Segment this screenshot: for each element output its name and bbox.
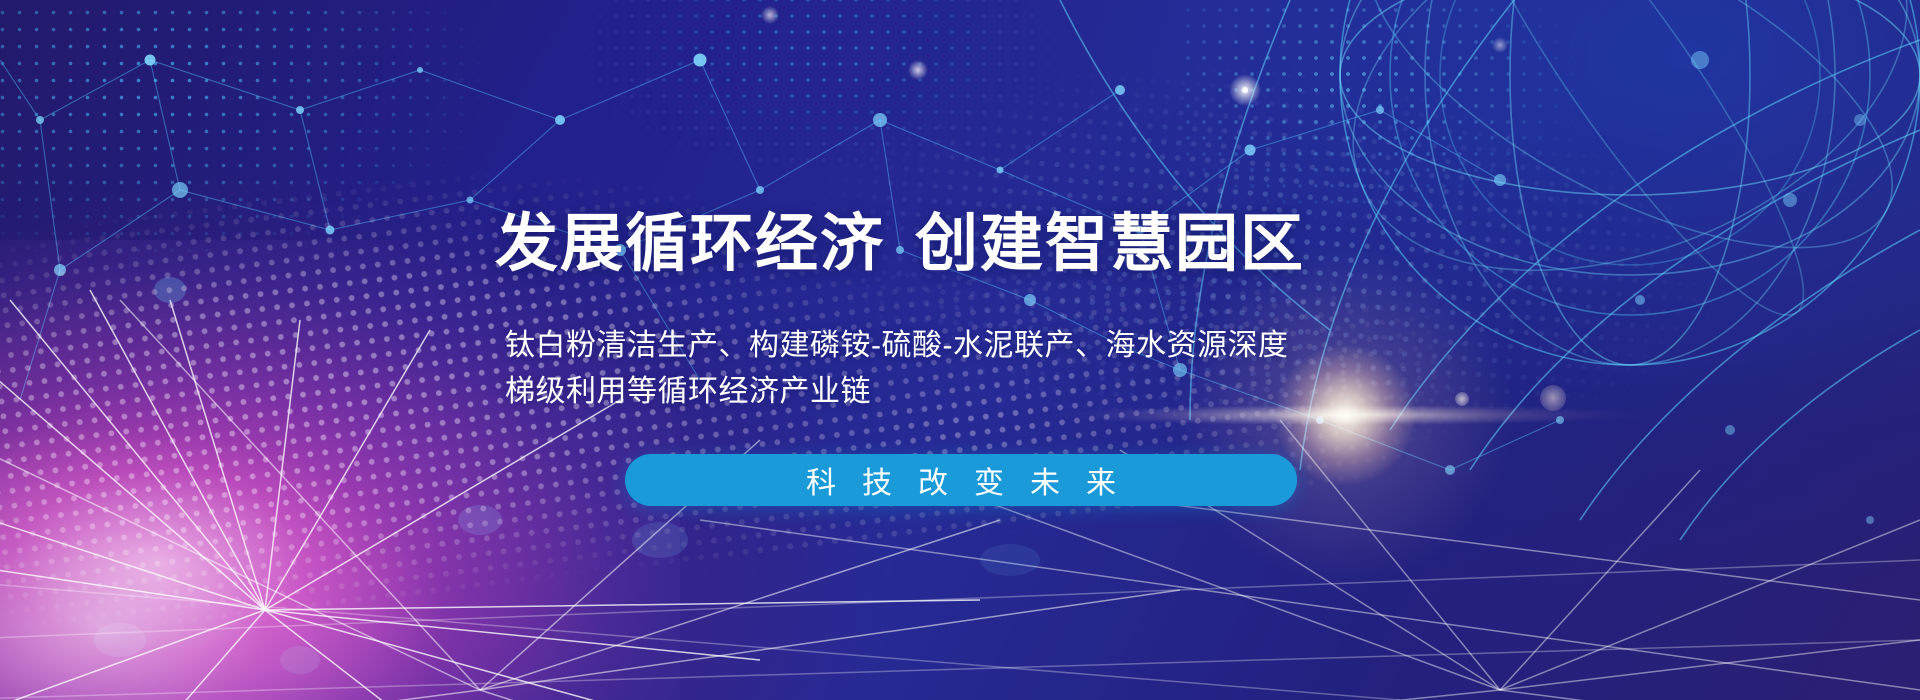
subtitle-line-1: 钛白粉清洁生产、构建磷铵-硫酸-水泥联产、海水资源深度 [505, 323, 1288, 369]
subtitle-line-2: 梯级利用等循环经济产业链 [505, 369, 1288, 415]
banner-subtitle: 钛白粉清洁生产、构建磷铵-硫酸-水泥联产、海水资源深度 梯级利用等循环经济产业链 [505, 323, 1288, 414]
cta-button-label: 科技改变未来 [780, 458, 1142, 502]
cta-button[interactable]: 科技改变未来 [625, 454, 1297, 506]
hero-banner: 发展循环经济创建智慧园区 钛白粉清洁生产、构建磷铵-硫酸-水泥联产、海水资源深度… [0, 0, 1920, 700]
banner-content: 发展循环经济创建智慧园区 钛白粉清洁生产、构建磷铵-硫酸-水泥联产、海水资源深度… [0, 0, 1920, 700]
page-title: 发展循环经济创建智慧园区 [495, 193, 1305, 284]
headline-part-1: 发展循环经济 [495, 209, 885, 279]
headline-part-2: 创建智慧园区 [915, 209, 1305, 279]
